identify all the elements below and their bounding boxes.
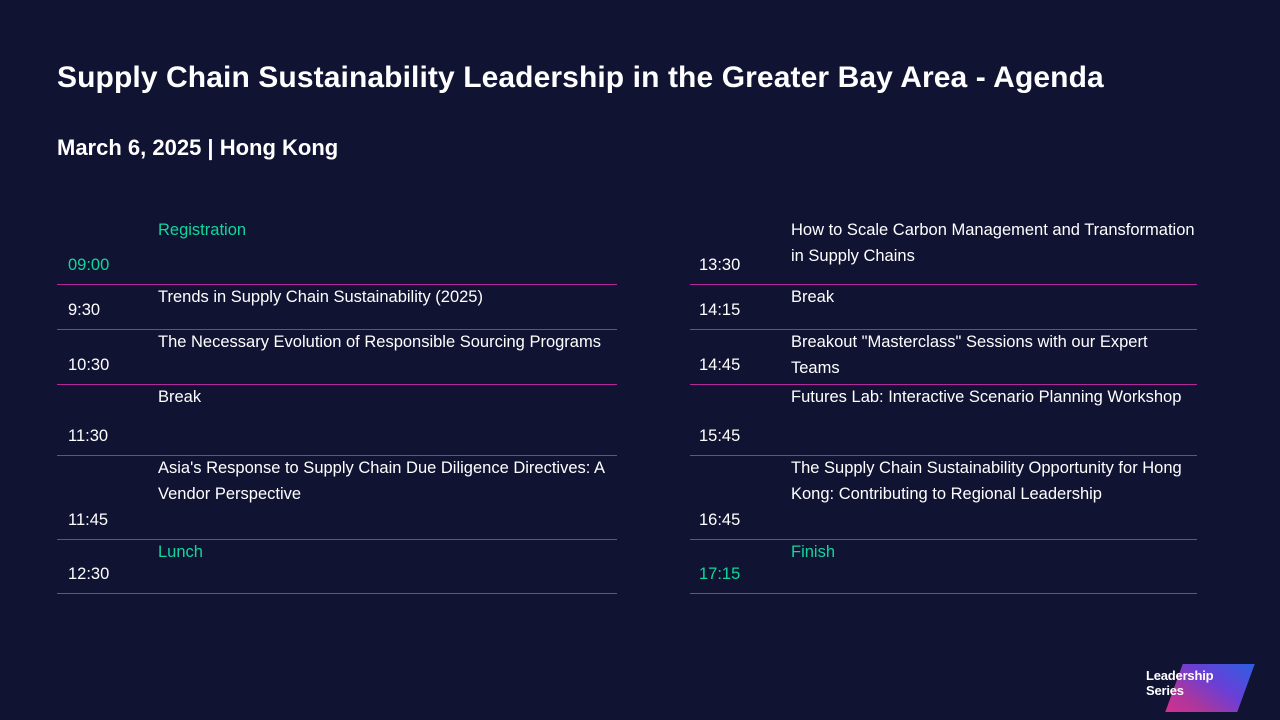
agenda-row-title: Breakout "Masterclass" Sessions with our…	[791, 330, 1197, 381]
agenda-row-time: 14:15	[690, 299, 791, 323]
agenda-row-title: Break	[791, 285, 1197, 311]
agenda-row-title: Trends in Supply Chain Sustainability (2…	[158, 285, 617, 311]
agenda-row-title: The Supply Chain Sustainability Opportun…	[791, 456, 1197, 507]
agenda-row: 13:30How to Scale Carbon Management and …	[690, 218, 1197, 285]
agenda-row-title: Futures Lab: Interactive Scenario Planni…	[791, 385, 1197, 411]
agenda-row: 11:30Break	[57, 385, 617, 456]
logo-line-2: Series	[1146, 684, 1213, 699]
agenda-row-time: 12:30	[57, 563, 158, 587]
agenda-row: 10:30The Necessary Evolution of Responsi…	[57, 330, 617, 385]
agenda-row-time: 9:30	[57, 299, 158, 323]
agenda-column-afternoon: 13:30How to Scale Carbon Management and …	[690, 218, 1197, 594]
page-title: Supply Chain Sustainability Leadership i…	[57, 60, 1217, 96]
agenda-row-time: 14:45	[690, 354, 791, 378]
agenda-row: 14:15Break	[690, 285, 1197, 330]
agenda-row-title: How to Scale Carbon Management and Trans…	[791, 218, 1197, 269]
agenda-row-title: The Necessary Evolution of Responsible S…	[158, 330, 617, 356]
agenda-row: 17:15Finish	[690, 540, 1197, 594]
agenda-row-time: 15:45	[690, 425, 791, 449]
agenda-column-morning: 09:00Registration9:30Trends in Supply Ch…	[57, 218, 617, 594]
agenda-row-time: 13:30	[690, 254, 791, 278]
agenda-row-time: 09:00	[57, 254, 158, 278]
agenda-row-title: Break	[158, 385, 617, 411]
agenda-row: 16:45The Supply Chain Sustainability Opp…	[690, 456, 1197, 540]
agenda-row: 12:30Lunch	[57, 540, 617, 594]
agenda-row: 14:45Breakout "Masterclass" Sessions wit…	[690, 330, 1197, 385]
logo-wordmark: Leadership Series	[1146, 669, 1213, 698]
page-subtitle: March 6, 2025 | Hong Kong	[57, 96, 1217, 161]
agenda-row: 11:45Asia's Response to Supply Chain Due…	[57, 456, 617, 540]
agenda-row: 9:30Trends in Supply Chain Sustainabilit…	[57, 285, 617, 330]
agenda-row-time: 10:30	[57, 354, 158, 378]
agenda-row-time: 11:30	[57, 425, 158, 449]
slide-header: Supply Chain Sustainability Leadership i…	[57, 60, 1217, 161]
agenda-row-title: Finish	[791, 540, 1197, 566]
leadership-series-logo: Leadership Series	[1130, 655, 1260, 717]
agenda-row-time: 11:45	[57, 509, 158, 533]
agenda-row: 09:00Registration	[57, 218, 617, 285]
logo-line-1: Leadership	[1146, 669, 1213, 684]
agenda-row-time: 16:45	[690, 509, 791, 533]
agenda-row-title: Asia's Response to Supply Chain Due Dili…	[158, 456, 617, 507]
agenda-row-time: 17:15	[690, 563, 791, 587]
agenda-row-title: Registration	[158, 218, 617, 244]
agenda-row-title: Lunch	[158, 540, 617, 566]
agenda-row: 15:45Futures Lab: Interactive Scenario P…	[690, 385, 1197, 456]
agenda-container: 09:00Registration9:30Trends in Supply Ch…	[0, 218, 1280, 608]
